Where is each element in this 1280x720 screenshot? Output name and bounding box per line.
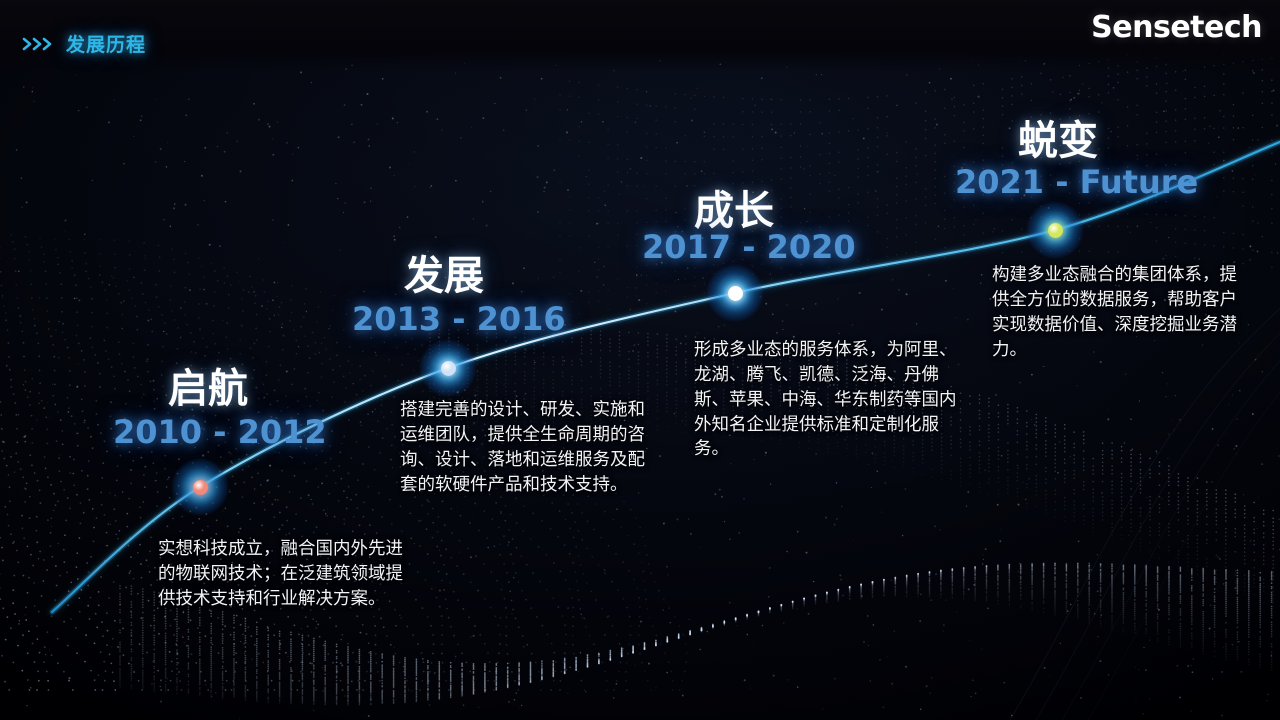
milestone-description-chengzhang: 形成多业态的服务体系，为阿里、龙湖、腾飞、凯德、泛海、丹佛斯、苹果、中海、华东制… [694, 337, 972, 461]
page-title: 发展历程 [66, 30, 146, 57]
milestone-description-tuibian: 构建多业态融合的集团体系，提供全方位的数据服务，帮助客户实现数据价值、深度挖掘业… [992, 262, 1250, 361]
milestone-description-qihang: 实想科技成立，融合国内外先进的物联网技术；在泛建筑领域提供技术支持和行业解决方案… [158, 536, 420, 611]
milestone-name-qihang: 启航 [168, 356, 248, 414]
milestone-years-tuibian: 2021 - Future [955, 163, 1198, 201]
milestone-description-fazhan: 搭建完善的设计、研发、实施和运维团队，提供全生命周期的咨询、设计、落地和运维服务… [400, 397, 650, 496]
triple-chevron-right-icon [22, 36, 56, 52]
milestone-years-chengzhang: 2017 - 2020 [642, 228, 856, 266]
milestone-years-fazhan: 2013 - 2016 [352, 300, 566, 338]
milestone-dot-qihang[interactable] [199, 486, 201, 488]
header-bar [0, 0, 1280, 72]
milestone-dot-core-icon [193, 480, 208, 495]
milestone-dot-core-icon [441, 361, 456, 376]
milestone-name-fazhan: 发展 [404, 243, 484, 301]
section-title-group: 发展历程 [22, 30, 146, 57]
milestone-dot-chengzhang[interactable] [734, 292, 736, 294]
milestone-dot-tuibian[interactable] [1054, 229, 1056, 231]
slide-stage: 发展历程 Sensetech 启航2010 - 2012实想科技成立，融合国内外… [0, 0, 1280, 720]
milestone-dot-fazhan[interactable] [447, 367, 449, 369]
milestone-years-qihang: 2010 - 2012 [113, 413, 327, 451]
milestone-dot-core-icon [728, 286, 743, 301]
milestone-name-tuibian: 蜕变 [1018, 108, 1098, 166]
brand-logo: Sensetech [1091, 10, 1262, 45]
milestone-dot-core-icon [1048, 223, 1063, 238]
